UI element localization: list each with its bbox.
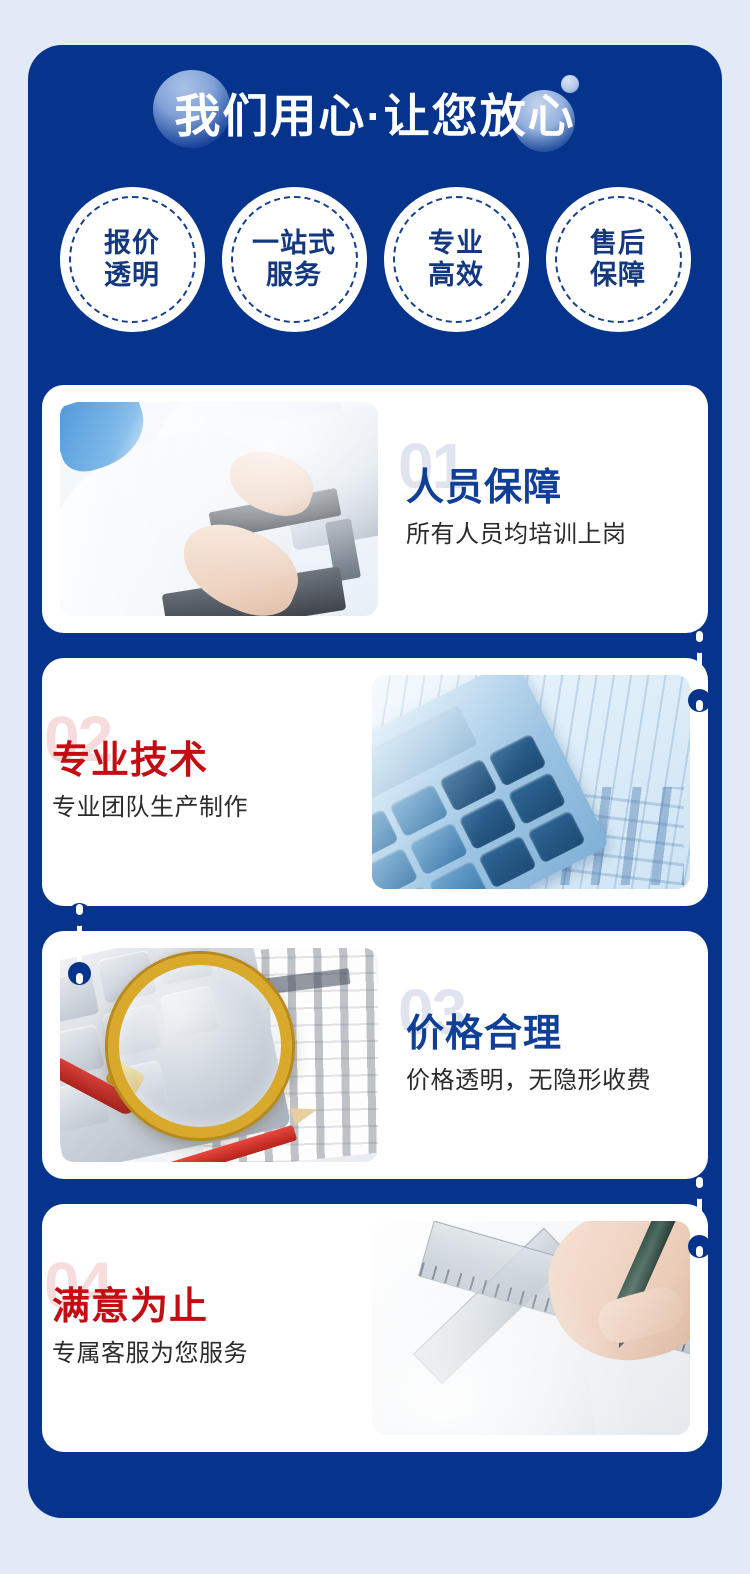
badge-label: 专业 高效 [428,228,484,292]
badge-row: 报价 透明 一站式 服务 专业 高效 售后 保障 [28,187,722,332]
feature-copy-4: 04 满意为止 专属客服为您服务 [42,1287,354,1369]
card-connector-1-2 [682,628,716,714]
badge-label: 售后 保障 [590,228,646,292]
feature-card-3[interactable]: 03 价格合理 价格透明，无隐形收费 [42,931,708,1179]
badge-line-2: 服务 [266,260,322,290]
badge-line-2: 保障 [590,260,646,290]
badge-line-1: 售后 [590,228,646,258]
connector-dot-icon [688,689,711,712]
feature-copy-2: 02 专业技术 专业团队生产制作 [42,741,354,823]
badge-line-1: 一站式 [252,228,336,258]
badge-line-2: 高效 [428,260,484,290]
badge-quote-transparent[interactable]: 报价 透明 [60,187,205,332]
card-title: 专业技术 [52,741,346,783]
card-title: 满意为止 [52,1287,346,1329]
feature-card-2[interactable]: 02 专业技术 专业团队生产制作 [42,658,708,906]
feature-photo-technology [372,675,690,889]
badge-label: 报价 透明 [104,228,160,292]
card-connector-2-3 [62,901,96,987]
card-subtitle: 专属客服为您服务 [52,1339,346,1369]
feature-photo-pricing [60,948,378,1162]
badge-line-1: 报价 [104,228,160,258]
promo-panel: 我们用心·让您放心 报价 透明 一站式 服务 专业 高效 售后 保障 [28,45,722,1518]
badge-label: 一站式 服务 [252,228,336,292]
badge-line-2: 透明 [104,260,160,290]
card-connector-3-4 [682,1174,716,1260]
connector-dot-icon [688,630,711,653]
card-title: 价格合理 [406,1014,700,1056]
feature-photo-satisfaction [372,1221,690,1435]
connector-dot-icon [68,962,91,985]
page-title: 我们用心·让您放心 [28,93,722,139]
badge-after-sales-guarantee[interactable]: 售后 保障 [546,187,691,332]
badge-professional-efficient[interactable]: 专业 高效 [384,187,529,332]
feature-copy-3: 03 价格合理 价格透明，无隐形收费 [396,1014,708,1096]
badge-one-stop-service[interactable]: 一站式 服务 [222,187,367,332]
feature-card-1[interactable]: 01 人员保障 所有人员均培训上岗 [42,385,708,633]
connector-dot-icon [688,1235,711,1258]
feature-photo-personnel [60,402,378,616]
card-subtitle: 专业团队生产制作 [52,793,346,823]
card-subtitle: 价格透明，无隐形收费 [406,1066,700,1096]
badge-line-1: 专业 [428,228,484,258]
feature-copy-1: 01 人员保障 所有人员均培训上岗 [396,468,708,550]
feature-card-4[interactable]: 04 满意为止 专属客服为您服务 [42,1204,708,1452]
card-title: 人员保障 [406,468,700,510]
connector-dot-icon [68,903,91,926]
card-subtitle: 所有人员均培训上岗 [406,520,700,550]
connector-dot-icon [688,1176,711,1199]
